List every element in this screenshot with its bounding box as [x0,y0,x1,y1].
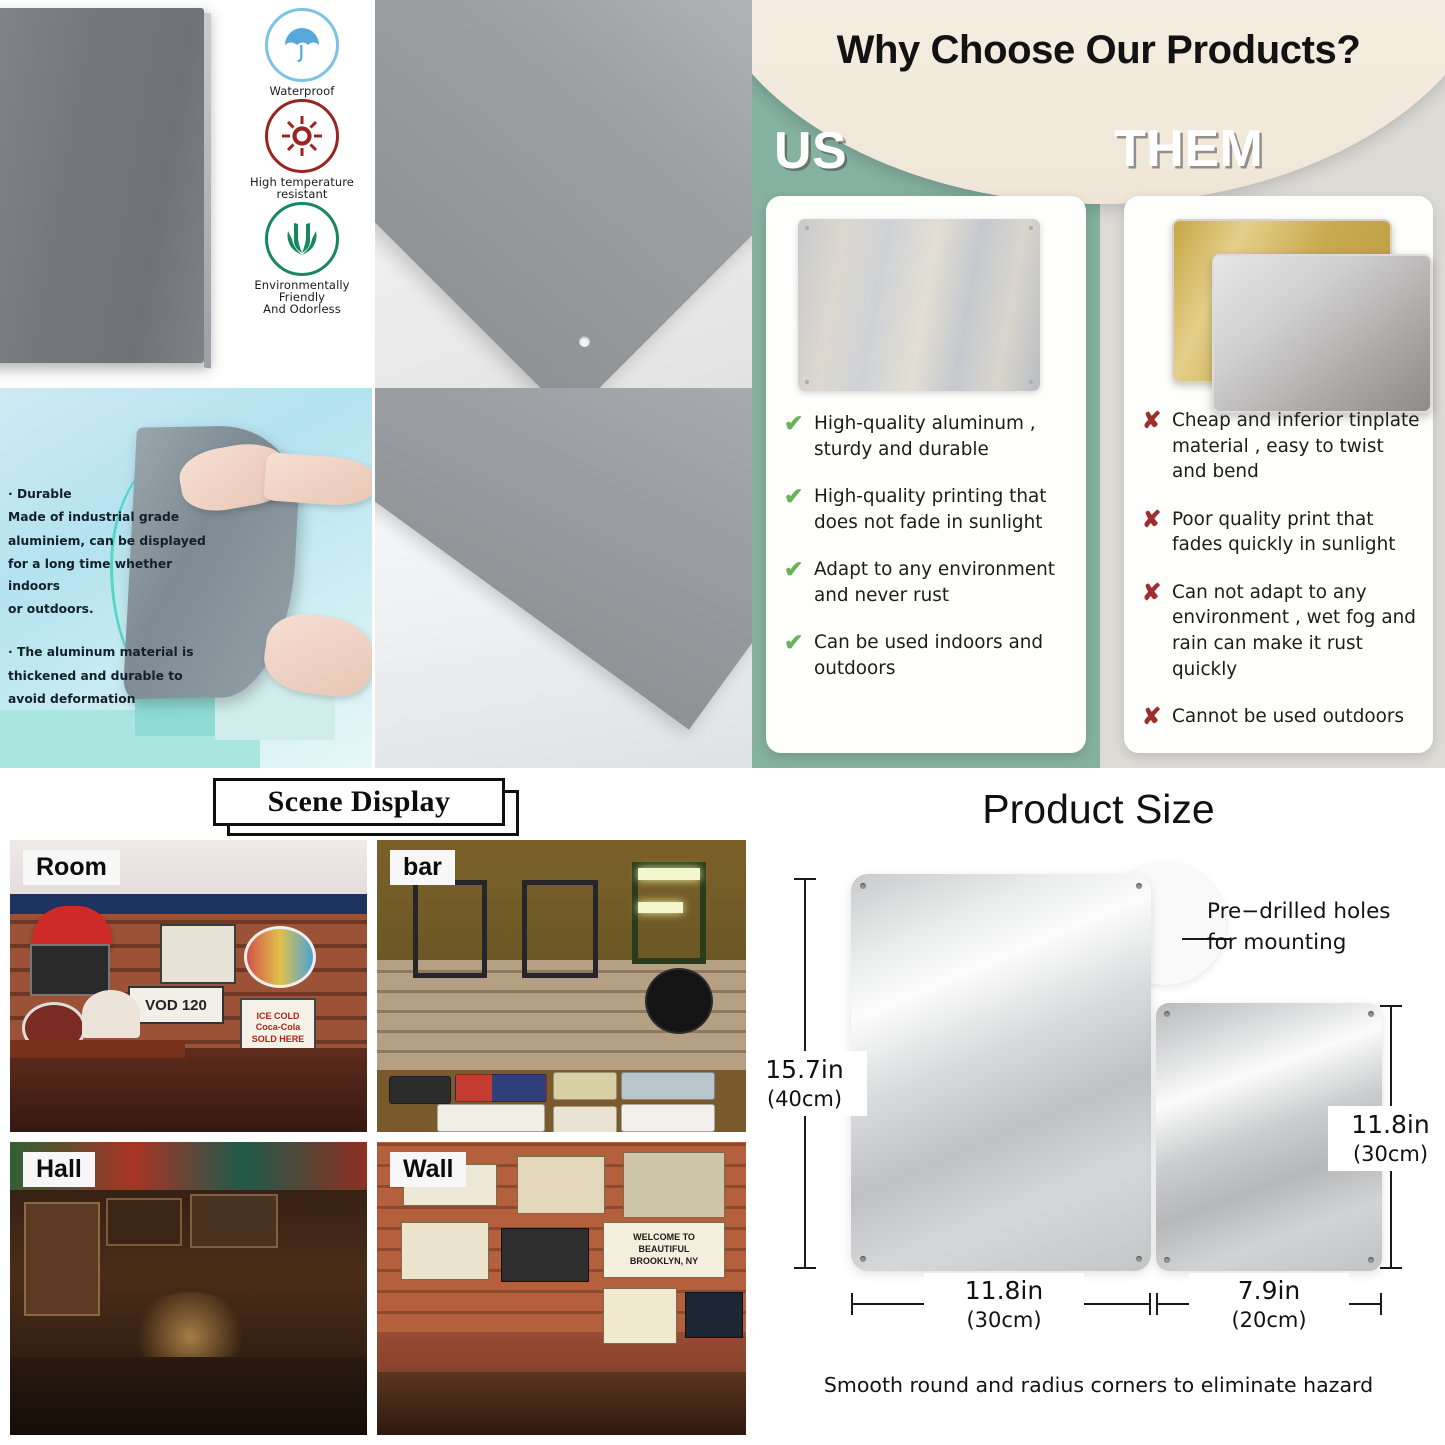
dim-cap [1149,1293,1151,1315]
wall-sign-chalk [501,1228,589,1282]
product-size-title: Product Size [752,786,1445,833]
room-desk [10,1040,185,1058]
durability-panel: · Durable Made of industrial grade alumi… [0,388,752,768]
check-icon: ✔ [784,557,814,581]
bar-neon-letter [632,862,706,964]
room-sign-1 [160,924,236,984]
mounting-hole [860,883,866,889]
mounting-hole [805,380,809,384]
forearm-top [263,452,372,508]
big-width-in: 11.8in [965,1276,1043,1305]
small-height-label: 11.8in (30cm) [1328,1106,1445,1171]
wall-sign-2 [517,1156,605,1214]
wall-sign-noworking [401,1222,489,1280]
scene-display-banner: Scene Display [213,778,513,830]
durability-bullet1-line1: Made of industrial grade [8,507,208,528]
big-height-in: 15.7in [765,1055,843,1084]
us-benefit-list: ✔ High-quality aluminum , sturdy and dur… [784,411,1072,704]
scene-photo-grid: VOD 120 ICE COLDCoca-ColaSOLD HERE Room [10,840,746,1435]
banner-frame: Scene Display [213,778,505,826]
mounting-hole [1164,1011,1170,1017]
cross-icon: ✘ [1142,507,1172,531]
size-footnote: Smooth round and radius corners to elimi… [752,1373,1445,1397]
plate-66 [553,1106,617,1132]
big-width-cm: (30cm) [924,1307,1084,1334]
us-benefit-text: Adapt to any environment and never rust [814,557,1072,608]
cross-icon: ✘ [1142,408,1172,432]
them-heading: THEM [1114,119,1263,179]
plate-5tydo11 [621,1104,715,1132]
cross-icon: ✘ [1142,704,1172,728]
them-drawback-text: Poor quality print that fades quickly in… [1172,507,1420,558]
small-height-cm: (30cm) [1328,1141,1445,1168]
us-benefit-text: Can be used indoors and outdoors [814,630,1072,681]
wall-sign-live [685,1292,743,1338]
dim-cap [1380,1267,1402,1269]
hall-sign-panel [24,1202,100,1316]
them-drawback-text: Can not adapt to any environment , wet f… [1172,580,1420,682]
text-spacer [8,622,208,642]
check-icon: ✔ [784,484,814,508]
scene-display-section: Scene Display VOD 120 ICE COLDCoca-ColaS… [0,768,752,1445]
caring-hands-icon [265,202,339,276]
feature-icon-list: Waterproof High temperatureresistant [232,0,372,388]
umbrella-icon [265,8,339,82]
list-item: ✘ Cannot be used outdoors [1142,704,1420,730]
hall-sign-2 [106,1198,182,1246]
durability-bullet1-line4: or outdoors. [8,599,208,620]
them-drawback-text: Cannot be used outdoors [1172,704,1404,730]
scene-tag-wall: Wall [390,1152,466,1187]
dim-cap [1380,1293,1382,1315]
small-width-cm: (20cm) [1189,1307,1349,1334]
list-item: ✔ High-quality printing that does not fa… [784,484,1072,535]
hall-sign-3 [190,1194,278,1248]
big-height-label: 15.7in (40cm) [752,1051,867,1116]
list-item: ✘ Poor quality print that fades quickly … [1142,507,1420,558]
them-silver-plate-image [1212,254,1432,413]
mounting-hole [1164,1257,1170,1263]
mounting-hole [1136,883,1142,889]
wall-sign-brooklyn: WELCOME TOBEAUTIFULBROOKLYN, NY [603,1222,725,1278]
feature-item-heat: High temperatureresistant [232,99,372,200]
feature-label-heat: High temperatureresistant [250,176,354,200]
mounting-hole [805,226,809,230]
sun-icon [265,99,339,173]
room-table-lamp [82,990,140,1038]
durability-bullet1-line3: for a long time whether indoors [8,554,208,597]
scene-photo-wall: WELCOME TOBEAUTIFULBROOKLYN, NY Wall [377,1142,746,1435]
wall-sign-beer [603,1288,677,1344]
check-icon: ✔ [784,630,814,654]
plate-fleet [621,1072,715,1100]
cross-icon: ✘ [1142,580,1172,604]
mounting-hole [1029,226,1033,230]
metal-sheet-diagonal [375,388,752,730]
dim-cap [1156,1293,1158,1315]
us-benefit-text: High-quality aluminum , sturdy and durab… [814,411,1072,462]
room-sign-vod: VOD 120 [128,986,224,1024]
big-width-label: 11.8in (30cm) [924,1273,1084,1336]
large-plate-diagram [851,874,1151,1271]
scene-tag-bar: bar [390,850,455,885]
us-card: ✔ High-quality aluminum , sturdy and dur… [766,196,1086,753]
product-hero-panel: Waterproof High temperatureresistant [0,0,752,388]
mounting-hole [860,1256,866,1262]
bending-demo-photo: · Durable Made of industrial grade alumi… [0,388,372,768]
product-size-section: Product Size Pre−drilled holes for mount… [752,768,1445,1445]
scene-display-title: Scene Display [268,785,451,819]
metal-sheet-photo-top [375,0,752,388]
us-benefit-text: High-quality printing that does not fade… [814,484,1072,535]
predrilled-holes-callout: Pre−drilled holes for mounting [1207,896,1437,958]
small-height-in: 11.8in [1351,1110,1429,1139]
feature-label-waterproof: Waterproof [270,85,335,97]
small-width-label: 7.9in (20cm) [1189,1273,1349,1336]
dim-cap [1380,1005,1402,1007]
durability-bullet2-line3: avoid deformation [8,689,208,710]
list-item: ✔ Adapt to any environment and never rus… [784,557,1072,608]
aluminum-plate-image [0,8,204,363]
room-sign-car [30,944,110,996]
wall-bar-counter [377,1372,746,1435]
plate-bbq [389,1076,451,1104]
list-item: ✔ High-quality aluminum , sturdy and dur… [784,411,1072,462]
list-item: ✔ Can be used indoors and outdoors [784,630,1072,681]
callout-line-2: for mounting [1207,927,1437,958]
mounting-hole [1029,380,1033,384]
them-drawback-list: ✘ Cheap and inferior tinplate material ,… [1142,408,1420,752]
dim-cap [794,1267,816,1269]
feature-label-eco: EnvironmentallyFriendlyAnd Odorless [254,279,349,315]
bar-shelf-1 [413,880,487,978]
product-infographic: Waterproof High temperatureresistant [0,0,1445,1445]
mounting-hole [579,336,590,347]
them-card: ✘ Cheap and inferior tinplate material ,… [1124,196,1433,753]
small-width-in: 7.9in [1238,1276,1301,1305]
why-choose-title: Why Choose Our Products? [752,28,1445,73]
room-sign-round [244,926,316,988]
hall-floor [10,1357,367,1435]
bar-guinness-sign [645,968,713,1034]
mounting-hole [1136,1256,1142,1262]
durability-bullet1-title: · Durable [8,484,208,505]
feature-item-waterproof: Waterproof [232,8,372,97]
dim-cap [794,878,816,880]
scene-photo-room: VOD 120 ICE COLDCoca-ColaSOLD HERE Room [10,840,367,1132]
durability-bullet2-line1: · The aluminum material is [8,642,208,663]
plate-route66 [553,1072,617,1100]
plate-usa66 [455,1074,547,1102]
mounting-hole [1368,1011,1374,1017]
durability-bullet1-line2: aluminiem, can be displayed [8,531,208,552]
scene-photo-bar: bar [377,840,746,1132]
big-height-cm: (40cm) [752,1086,867,1113]
scene-tag-hall: Hall [23,1152,95,1187]
list-item: ✘ Cheap and inferior tinplate material ,… [1142,408,1420,485]
plate-2a5184 [437,1104,545,1132]
room-table-area [10,1048,367,1132]
us-product-image [798,219,1040,391]
scene-tag-room: Room [23,850,120,885]
product-plate-photo [0,0,232,388]
wall-sign-hudson [623,1152,725,1218]
them-drawback-text: Cheap and inferior tinplate material , e… [1172,408,1420,485]
why-choose-section: Why Choose Our Products? US THEM ✔ High-… [752,0,1445,768]
feature-item-eco: EnvironmentallyFriendlyAnd Odorless [232,202,372,315]
callout-line-1: Pre−drilled holes [1207,896,1437,927]
durability-bullet2-line2: thickened and durable to [8,666,208,687]
durability-text-block: · Durable Made of industrial grade alumi… [8,484,208,713]
mounting-hole [1368,1257,1374,1263]
dim-cap [851,1293,853,1315]
metal-sheet-photo-bottom [375,388,752,768]
list-item: ✘ Can not adapt to any environment , wet… [1142,580,1420,682]
check-icon: ✔ [784,411,814,435]
us-heading: US [774,121,847,181]
bar-shelf-2 [522,880,598,978]
scene-photo-hall: Hall [10,1142,367,1435]
